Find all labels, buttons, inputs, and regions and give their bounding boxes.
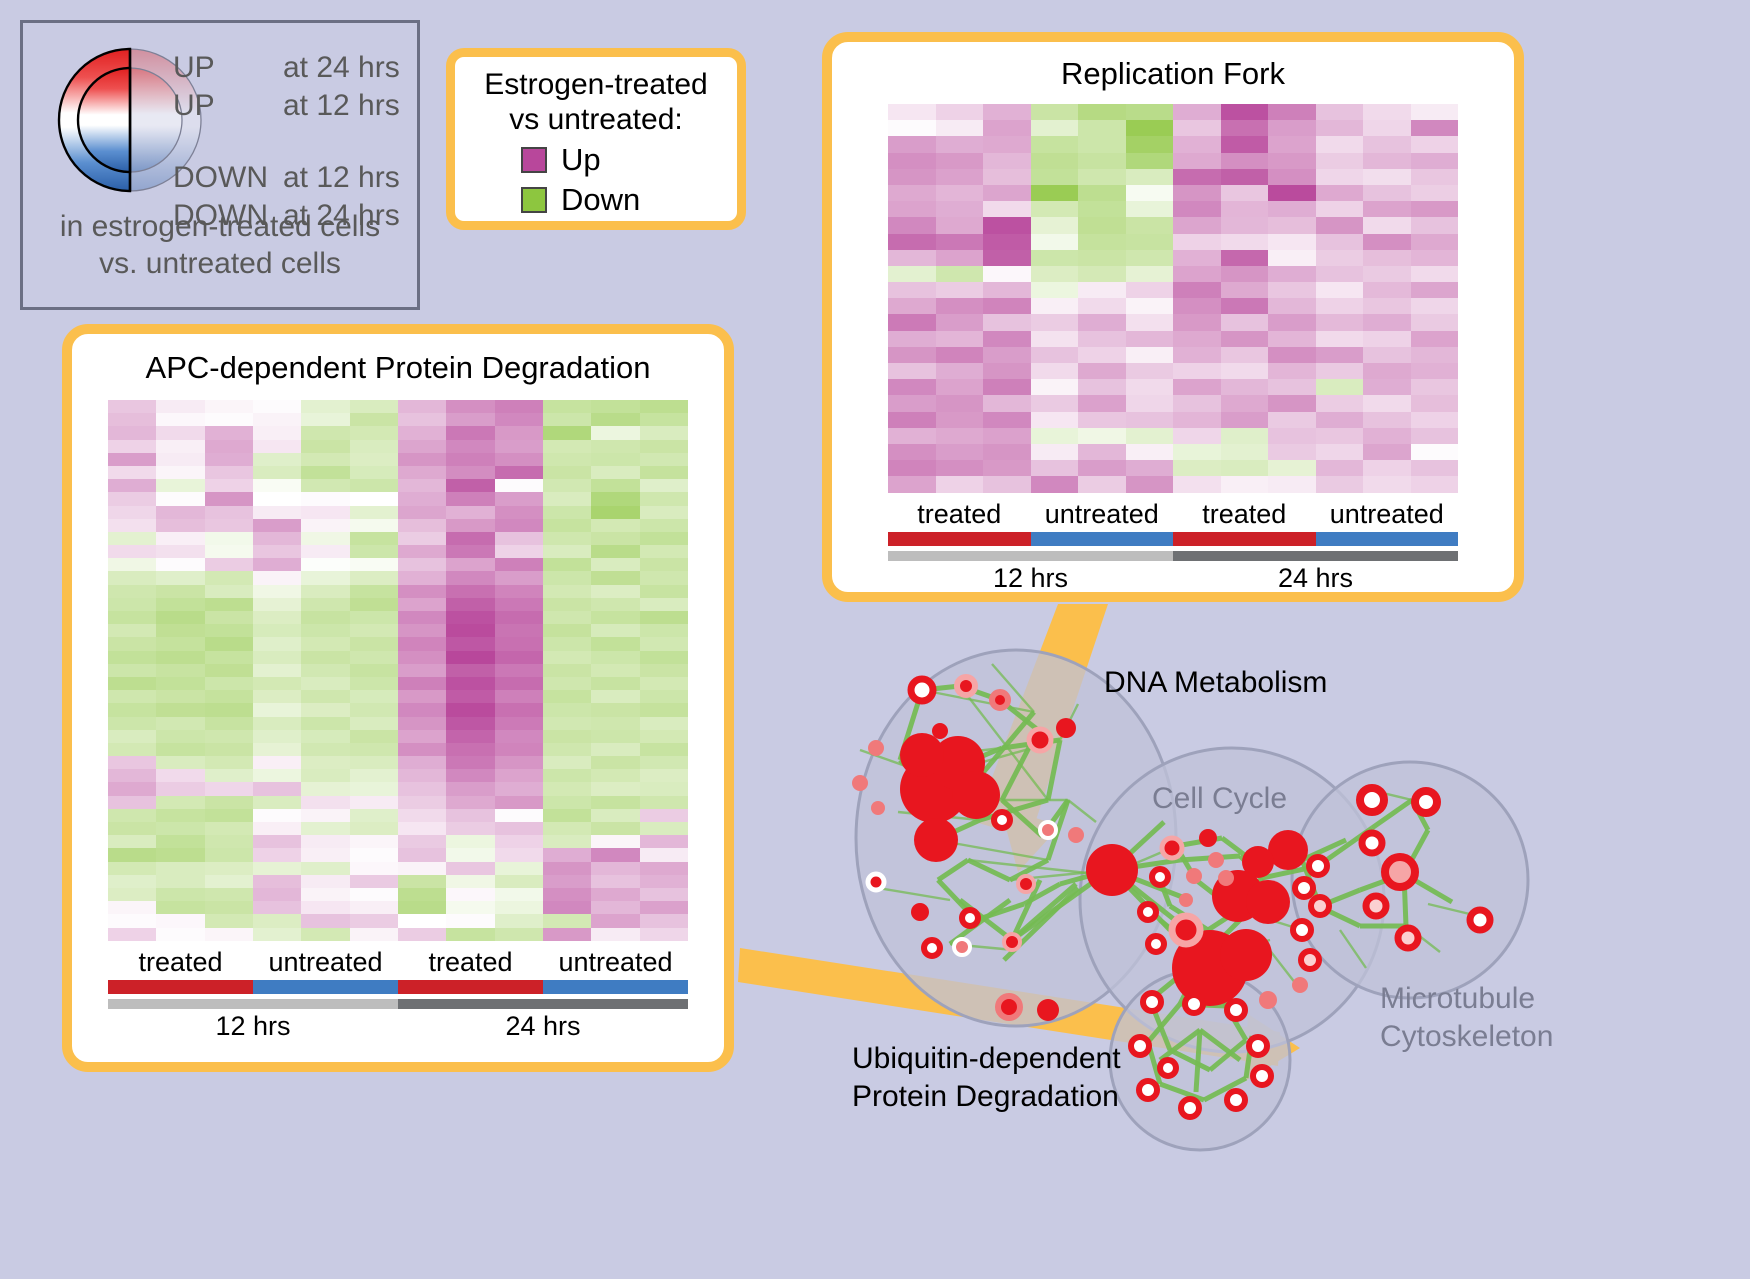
heatmap-cell xyxy=(1173,298,1221,314)
heatmap-cell xyxy=(1031,395,1079,411)
heatmap-cell xyxy=(591,440,639,453)
heatmap-cell xyxy=(398,862,446,875)
heatmap-cell xyxy=(253,479,301,492)
heatmap-cell xyxy=(1221,379,1269,395)
heatmap-cell xyxy=(108,571,156,584)
heatmap-cell xyxy=(543,479,591,492)
legend-row-down-12: DOWN at 12 hrs xyxy=(173,161,423,199)
heatmap-cell xyxy=(1031,412,1079,428)
heatmap-cell xyxy=(301,928,349,941)
heatmap-cell xyxy=(253,585,301,598)
heatmap-row xyxy=(888,120,1458,136)
heatmap-cell xyxy=(446,717,494,730)
heatmap-cell xyxy=(301,875,349,888)
heatmap-cell xyxy=(398,545,446,558)
heatmap-cell xyxy=(108,519,156,532)
heatmap-cell xyxy=(398,413,446,426)
heatmap-cell xyxy=(108,703,156,716)
heatmap-row xyxy=(888,282,1458,298)
legend-footer-line2: vs. untreated cells xyxy=(23,246,417,283)
heatmap-cell xyxy=(591,651,639,664)
heatmap-cell xyxy=(156,440,204,453)
heatmap-cell xyxy=(1316,444,1364,460)
heatmap-cell xyxy=(398,703,446,716)
heatmap-row xyxy=(108,914,688,927)
heatmap-cell xyxy=(350,769,398,782)
heatmap-row xyxy=(108,426,688,439)
heatmap-cell xyxy=(591,730,639,743)
heatmap-cell xyxy=(495,624,543,637)
heatmap-cell xyxy=(1173,201,1221,217)
heatmap-cell xyxy=(640,730,688,743)
heatmap-cell xyxy=(640,809,688,822)
heatmap-cell xyxy=(888,120,936,136)
heatmap-row xyxy=(888,136,1458,152)
heatmap-cell xyxy=(301,782,349,795)
heatmap-cell xyxy=(1031,363,1079,379)
heatmap-cell xyxy=(1316,153,1364,169)
heatmap-cell xyxy=(936,314,984,330)
apc-heatmap xyxy=(108,400,688,941)
heatmap-cell xyxy=(1411,314,1459,330)
heatmap-cell xyxy=(350,928,398,941)
heatmap-cell xyxy=(1411,250,1459,266)
heatmap-cell xyxy=(495,413,543,426)
heatmap-cell xyxy=(495,571,543,584)
heatmap-cell xyxy=(640,690,688,703)
heatmap-cell xyxy=(108,756,156,769)
heatmap-cell xyxy=(253,848,301,861)
heatmap-cell xyxy=(446,453,494,466)
heatmap-cell xyxy=(983,298,1031,314)
heatmap-cell xyxy=(543,519,591,532)
heatmap-cell xyxy=(350,914,398,927)
heatmap-row xyxy=(108,730,688,743)
heatmap-cell xyxy=(983,347,1031,363)
heatmap-cell xyxy=(205,413,253,426)
heatmap-cell xyxy=(1126,395,1174,411)
heatmap-cell xyxy=(350,782,398,795)
legend-footer-line1: in estrogen-treated cells xyxy=(23,209,417,246)
heatmap-cell xyxy=(1316,298,1364,314)
heatmap-cell xyxy=(1078,395,1126,411)
heatmap-cell xyxy=(888,347,936,363)
heatmap-cell xyxy=(350,624,398,637)
heatmap-cell xyxy=(446,690,494,703)
heatmap-cell xyxy=(446,532,494,545)
heatmap-cell xyxy=(495,598,543,611)
heatmap-cell xyxy=(591,624,639,637)
heatmap-cell xyxy=(591,901,639,914)
heatmap-cell xyxy=(936,444,984,460)
heatmap-cell xyxy=(301,769,349,782)
heatmap-cell xyxy=(1126,185,1174,201)
heatmap-cell xyxy=(495,703,543,716)
heatmap-cell xyxy=(446,730,494,743)
heatmap-cell xyxy=(1411,395,1459,411)
heatmap-cell xyxy=(1126,444,1174,460)
heatmap-cell xyxy=(301,440,349,453)
heatmap-cell xyxy=(398,677,446,690)
heatmap-cell xyxy=(1221,234,1269,250)
heatmap-cell xyxy=(253,756,301,769)
heatmap-cell xyxy=(1173,363,1221,379)
heatmap-cell xyxy=(398,809,446,822)
heatmap-cell xyxy=(108,453,156,466)
heatmap-cell xyxy=(398,888,446,901)
heatmap-cell xyxy=(983,379,1031,395)
heatmap-cell xyxy=(205,835,253,848)
heatmap-cell xyxy=(888,136,936,152)
heatmap-cell xyxy=(640,558,688,571)
heatmap-cell xyxy=(591,690,639,703)
heatmap-cell xyxy=(936,217,984,233)
cluster-microtubule xyxy=(1292,762,1528,998)
heatmap-cell xyxy=(1173,282,1221,298)
heatmap-cell xyxy=(495,914,543,927)
heatmap-cell xyxy=(983,201,1031,217)
apc-condition-bar xyxy=(108,980,688,994)
heatmap-row xyxy=(888,217,1458,233)
heatmap-cell xyxy=(1411,234,1459,250)
heatmap-cell xyxy=(398,769,446,782)
heatmap-cell xyxy=(446,624,494,637)
legend-row-up-12: UP at 12 hrs xyxy=(173,89,423,127)
heatmap-cell xyxy=(1316,395,1364,411)
heatmap-cell xyxy=(205,585,253,598)
heatmap-row xyxy=(108,664,688,677)
heatmap-cell xyxy=(1078,266,1126,282)
heatmap-cell xyxy=(1316,314,1364,330)
heatmap-cell xyxy=(1221,428,1269,444)
heatmap-cell xyxy=(1031,298,1079,314)
heatmap-cell xyxy=(398,637,446,650)
heatmap-cell xyxy=(1268,234,1316,250)
heatmap-cell xyxy=(108,769,156,782)
heatmap-cell xyxy=(253,571,301,584)
heatmap-cell xyxy=(591,532,639,545)
heatmap-cell xyxy=(1316,266,1364,282)
heatmap-cell xyxy=(350,730,398,743)
heatmap-cell xyxy=(350,492,398,505)
heatmap-cell xyxy=(1126,363,1174,379)
heatmap-cell xyxy=(1173,476,1221,492)
heatmap-cell xyxy=(301,519,349,532)
heatmap-cell xyxy=(640,453,688,466)
heatmap-row xyxy=(888,379,1458,395)
heatmap-row xyxy=(108,756,688,769)
heatmap-cell xyxy=(205,677,253,690)
heatmap-cell xyxy=(495,848,543,861)
heatmap-cell xyxy=(640,717,688,730)
legend-key: UP xyxy=(173,51,283,85)
heatmap-cell xyxy=(543,809,591,822)
heatmap-row xyxy=(108,888,688,901)
heatmap-cell xyxy=(350,756,398,769)
heatmap-cell xyxy=(156,690,204,703)
heatmap-cell xyxy=(1078,217,1126,233)
heatmap-cell xyxy=(591,413,639,426)
heatmap-cell xyxy=(301,479,349,492)
heatmap-cell xyxy=(205,769,253,782)
heatmap-cell xyxy=(1316,347,1364,363)
heatmap-cell xyxy=(495,743,543,756)
heatmap-cell xyxy=(350,466,398,479)
heatmap-cell xyxy=(350,651,398,664)
heatmap-cell xyxy=(1031,347,1079,363)
heatmap-cell xyxy=(301,506,349,519)
heatmap-cell xyxy=(1126,476,1174,492)
heatmap-cell xyxy=(888,201,936,217)
heatmap-row xyxy=(888,266,1458,282)
heatmap-cell xyxy=(1078,282,1126,298)
heatmap-cell xyxy=(108,558,156,571)
heatmap-cell xyxy=(301,400,349,413)
timepoint-color-bar xyxy=(1173,551,1458,561)
heatmap-cell xyxy=(495,717,543,730)
heatmap-row xyxy=(108,809,688,822)
heatmap-cell xyxy=(350,901,398,914)
heatmap-cell xyxy=(446,413,494,426)
heatmap-cell xyxy=(205,848,253,861)
timepoint-label: 12 hrs xyxy=(888,563,1173,594)
heatmap-cell xyxy=(1031,444,1079,460)
heatmap-cell xyxy=(495,756,543,769)
heatmap-cell xyxy=(1173,460,1221,476)
heatmap-cell xyxy=(1078,476,1126,492)
heatmap-cell xyxy=(156,796,204,809)
heatmap-cell xyxy=(591,400,639,413)
heatmap-cell xyxy=(543,875,591,888)
heatmap-row xyxy=(108,717,688,730)
legend-spacer xyxy=(173,127,423,161)
heatmap-cell xyxy=(543,624,591,637)
heatmap-cell xyxy=(1268,120,1316,136)
apc-time-labels: 12 hrs24 hrs xyxy=(108,1011,688,1042)
heatmap-cell xyxy=(1268,185,1316,201)
heatmap-cell xyxy=(1411,298,1459,314)
timepoint-label: 12 hrs xyxy=(108,1011,398,1042)
heatmap-cell xyxy=(495,888,543,901)
heatmap-cell xyxy=(1031,185,1079,201)
heatmap-cell xyxy=(936,153,984,169)
heatmap-cell xyxy=(301,466,349,479)
heatmap-cell xyxy=(301,822,349,835)
heatmap-cell xyxy=(108,901,156,914)
heatmap-cell xyxy=(591,809,639,822)
heatmap-cell xyxy=(936,331,984,347)
heatmap-row xyxy=(888,169,1458,185)
heatmap-cell xyxy=(108,848,156,861)
heatmap-cell xyxy=(1078,153,1126,169)
condition-color-bar xyxy=(1316,532,1459,546)
heatmap-cell xyxy=(1268,169,1316,185)
legend-item-up: Up xyxy=(521,142,737,178)
heatmap-cell xyxy=(446,677,494,690)
heatmap-cell xyxy=(350,413,398,426)
heatmap-cell xyxy=(398,822,446,835)
heatmap-cell xyxy=(495,928,543,941)
heatmap-cell xyxy=(156,453,204,466)
heatmap-cell xyxy=(398,730,446,743)
heatmap-cell xyxy=(1363,298,1411,314)
heatmap-cell xyxy=(108,677,156,690)
heatmap-cell xyxy=(205,571,253,584)
heatmap-row xyxy=(888,234,1458,250)
heatmap-cell xyxy=(1363,412,1411,428)
heatmap-cell xyxy=(350,848,398,861)
heatmap-cell xyxy=(543,453,591,466)
heatmap-cell xyxy=(1221,395,1269,411)
heatmap-cell xyxy=(936,201,984,217)
heatmap-cell xyxy=(543,598,591,611)
heatmap-cell xyxy=(1078,201,1126,217)
heatmap-cell xyxy=(446,479,494,492)
heatmap-row xyxy=(108,400,688,413)
heatmap-cell xyxy=(983,136,1031,152)
heatmap-cell xyxy=(301,664,349,677)
heatmap-cell xyxy=(495,690,543,703)
condition-color-bar xyxy=(543,980,688,994)
heatmap-cell xyxy=(1126,314,1174,330)
heatmap-cell xyxy=(350,690,398,703)
heatmap-cell xyxy=(398,835,446,848)
heatmap-cell xyxy=(495,585,543,598)
heatmap-cell xyxy=(1268,412,1316,428)
heatmap-cell xyxy=(888,444,936,460)
heatmap-cell xyxy=(156,756,204,769)
heatmap-row xyxy=(108,440,688,453)
heatmap-cell xyxy=(640,479,688,492)
heatmap-row xyxy=(108,875,688,888)
heatmap-cell xyxy=(1031,250,1079,266)
heatmap-cell xyxy=(495,862,543,875)
heatmap-cell xyxy=(591,835,639,848)
heatmap-cell xyxy=(1126,250,1174,266)
heatmap-cell xyxy=(1411,120,1459,136)
heatmap-cell xyxy=(983,153,1031,169)
heatmap-cell xyxy=(640,611,688,624)
heatmap-cell xyxy=(1316,412,1364,428)
heatmap-cell xyxy=(205,453,253,466)
heatmap-cell xyxy=(495,466,543,479)
heatmap-cell xyxy=(108,822,156,835)
heatmap-cell xyxy=(205,598,253,611)
heatmap-cell xyxy=(591,558,639,571)
heatmap-cell xyxy=(1173,153,1221,169)
heatmap-cell xyxy=(1221,266,1269,282)
heatmap-cell xyxy=(398,796,446,809)
heatmap-cell xyxy=(1268,282,1316,298)
heatmap-cell xyxy=(301,624,349,637)
heatmap-cell xyxy=(205,822,253,835)
heatmap-cell xyxy=(543,466,591,479)
heatmap-cell xyxy=(446,519,494,532)
heatmap-cell xyxy=(1316,428,1364,444)
condition-color-bar xyxy=(253,980,398,994)
heatmap-cell xyxy=(350,571,398,584)
heatmap-cell xyxy=(350,743,398,756)
cluster-label-microtubule-cytoskeleton: Microtubule Cytoskeleton xyxy=(1380,980,1553,1055)
heatmap-cell xyxy=(350,400,398,413)
heatmap-cell xyxy=(253,769,301,782)
heatmap-row xyxy=(888,395,1458,411)
heatmap-cell xyxy=(936,412,984,428)
heatmap-cell xyxy=(888,331,936,347)
heatmap-cell xyxy=(1078,185,1126,201)
cluster-dna-metabolism xyxy=(856,650,1176,1026)
heatmap-cell xyxy=(1126,136,1174,152)
heatmap-cell xyxy=(1411,153,1459,169)
heatmap-row xyxy=(108,848,688,861)
heatmap-cell xyxy=(936,298,984,314)
heatmap-row xyxy=(108,822,688,835)
heatmap-cell xyxy=(640,848,688,861)
heatmap-cell xyxy=(205,479,253,492)
heatmap-cell xyxy=(108,862,156,875)
heatmap-cell xyxy=(108,651,156,664)
heatmap-cell xyxy=(983,331,1031,347)
heatmap-cell xyxy=(108,624,156,637)
apc-condition-labels: treateduntreatedtreateduntreated xyxy=(108,947,688,978)
heatmap-cell xyxy=(1221,120,1269,136)
heatmap-cell xyxy=(398,875,446,888)
heatmap-row xyxy=(888,412,1458,428)
heatmap-cell xyxy=(495,677,543,690)
heatmap-cell xyxy=(591,743,639,756)
heatmap-cell xyxy=(543,769,591,782)
heatmap-cell xyxy=(936,234,984,250)
heatmap-cell xyxy=(591,571,639,584)
heatmap-cell xyxy=(888,217,936,233)
heatmap-cell xyxy=(156,809,204,822)
heatmap-cell xyxy=(1268,314,1316,330)
heatmap-cell xyxy=(1126,347,1174,363)
heatmap-cell xyxy=(108,637,156,650)
heatmap-cell xyxy=(446,875,494,888)
heatmap-cell xyxy=(543,664,591,677)
heatmap-cell xyxy=(1363,185,1411,201)
heatmap-cell xyxy=(888,250,936,266)
heatmap-cell xyxy=(591,875,639,888)
heatmap-cell xyxy=(936,476,984,492)
up-color-swatch xyxy=(521,147,547,173)
heatmap-cell xyxy=(1126,120,1174,136)
heatmap-cell xyxy=(156,506,204,519)
heatmap-cell xyxy=(1363,153,1411,169)
heatmap-cell xyxy=(543,914,591,927)
timepoint-color-bar xyxy=(108,999,398,1009)
heatmap-cell xyxy=(446,928,494,941)
heatmap-cell xyxy=(253,703,301,716)
estrogen-legend-panel: Estrogen-treated vs untreated: Up Down xyxy=(446,48,746,230)
heatmap-cell xyxy=(888,476,936,492)
heatmap-row xyxy=(108,677,688,690)
heatmap-cell xyxy=(1031,282,1079,298)
heatmap-cell xyxy=(495,453,543,466)
heatmap-cell xyxy=(1268,298,1316,314)
heatmap-cell xyxy=(1268,331,1316,347)
heatmap-cell xyxy=(108,796,156,809)
heatmap-row xyxy=(888,476,1458,492)
heatmap-cell xyxy=(983,476,1031,492)
heatmap-cell xyxy=(253,624,301,637)
heatmap-cell xyxy=(640,598,688,611)
heatmap-cell xyxy=(1411,363,1459,379)
heatmap-cell xyxy=(446,466,494,479)
heatmap-row xyxy=(108,743,688,756)
heatmap-cell xyxy=(253,862,301,875)
